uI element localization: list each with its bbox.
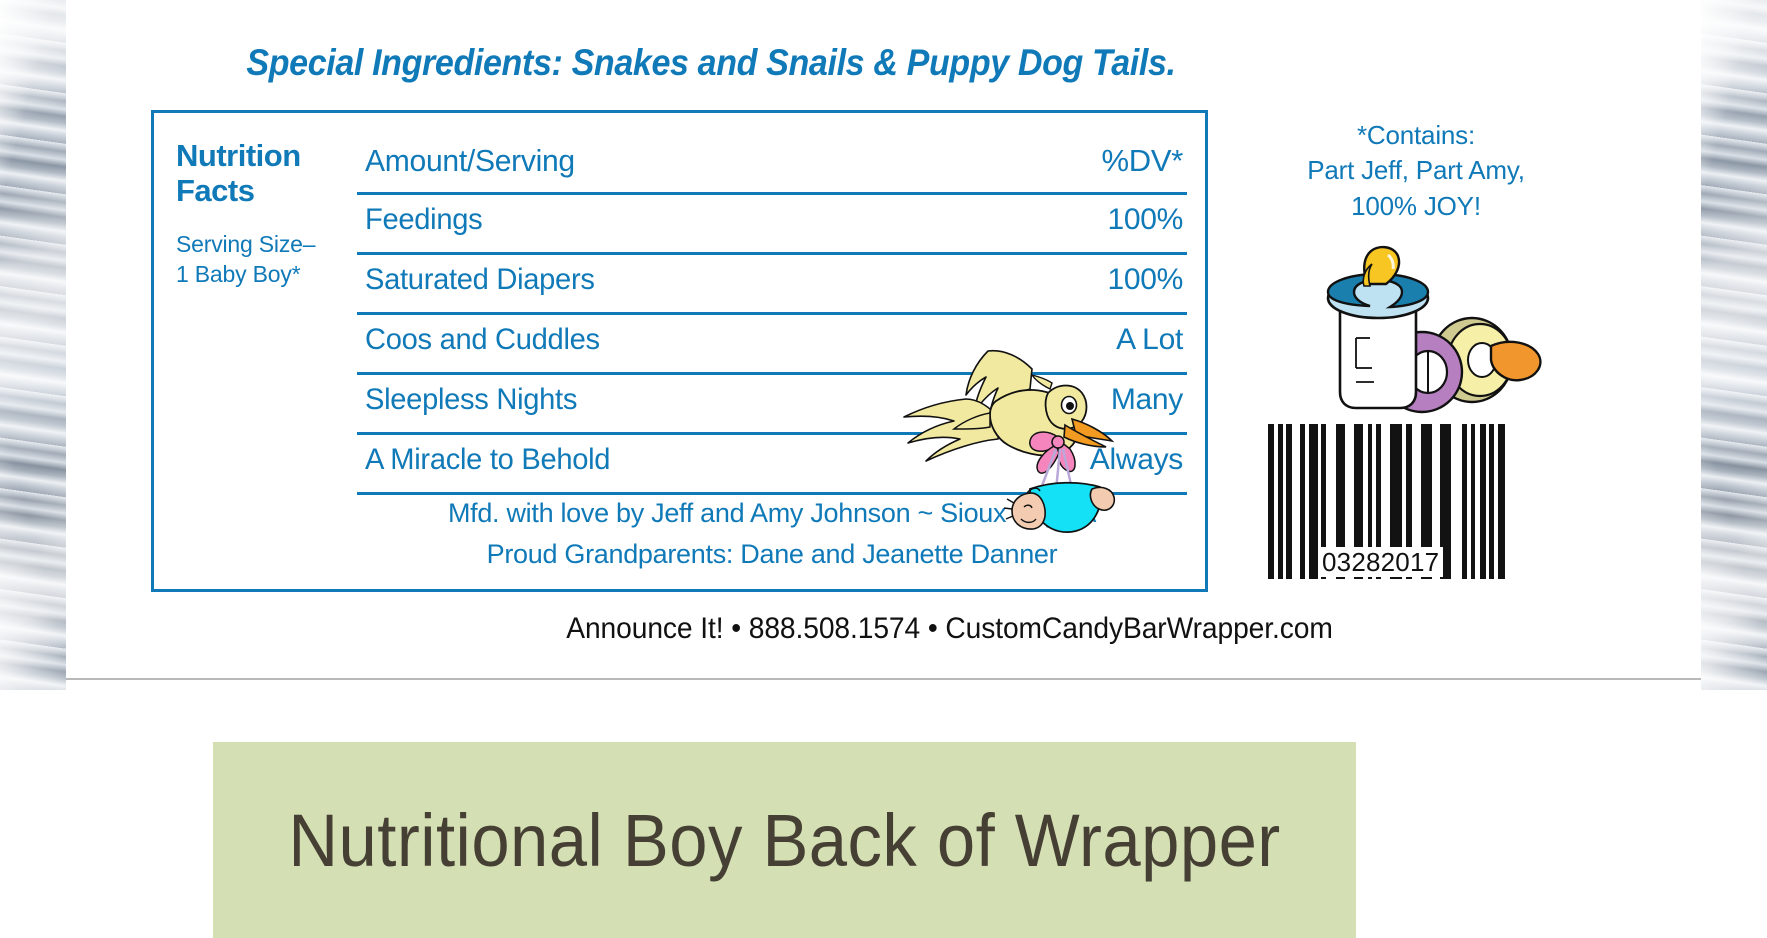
contains-line1: *Contains: <box>1226 118 1606 153</box>
wrapper-white-panel: Special Ingredients: Snakes and Snails &… <box>66 0 1701 680</box>
nutrition-row-value: A Lot <box>1116 323 1183 357</box>
contains-line3: 100% JOY! <box>1226 189 1606 224</box>
barcode-icon: 03282017 <box>1268 424 1505 579</box>
nutrition-row-label: Coos and Cuddles <box>365 323 600 357</box>
nutrition-facts-title: Nutrition Facts <box>176 139 351 208</box>
foil-edge-left <box>0 0 66 690</box>
baby-bottle-icon <box>1286 242 1546 422</box>
nutrition-row-value: 100% <box>1107 263 1183 297</box>
nutrition-row-header: Amount/Serving %DV* <box>357 135 1187 195</box>
wrapper-preview-stage: Special Ingredients: Snakes and Snails &… <box>0 0 1767 938</box>
manufactured-by-line: Mfd. with love by Jeff and Amy Johnson ~… <box>357 493 1187 534</box>
nutrition-row-label: Sleepless Nights <box>365 383 577 417</box>
announce-footer-line: Announce It! • 888.508.1574 • CustomCand… <box>181 612 1718 646</box>
serving-size-block: Serving Size– 1 Baby Boy* <box>176 230 351 289</box>
bottle-and-pacifier-illustration <box>1286 242 1546 422</box>
nutrition-row-value: 100% <box>1107 203 1183 237</box>
nutrition-facts-title-line1: Nutrition <box>176 139 351 174</box>
nutrition-facts-heading-block: Nutrition Facts Serving Size– 1 Baby Boy… <box>176 139 351 289</box>
barcode-number: 03282017 <box>1318 547 1443 577</box>
nutrition-rows: Amount/Serving %DV* Feedings 100% Satura… <box>357 135 1187 495</box>
nutrition-row-value: Always <box>1090 443 1183 477</box>
contains-note: *Contains: Part Jeff, Part Amy, 100% JOY… <box>1226 118 1606 224</box>
table-row: Coos and Cuddles A Lot <box>357 315 1187 375</box>
caption-bar: Nutritional Boy Back of Wrapper <box>213 742 1356 938</box>
foil-edge-right <box>1701 0 1767 690</box>
table-row: Feedings 100% <box>357 195 1187 255</box>
special-ingredients-line: Special Ingredients: Snakes and Snails &… <box>118 42 1305 84</box>
nutrition-row-value: Many <box>1111 383 1183 417</box>
table-row: Sleepless Nights Many <box>357 375 1187 435</box>
table-row: A Miracle to Behold Always <box>357 435 1187 495</box>
nutrition-row-label: Saturated Diapers <box>365 263 595 297</box>
right-info-column: *Contains: Part Jeff, Part Amy, 100% JOY… <box>1226 118 1606 422</box>
nutrition-footer-block: Mfd. with love by Jeff and Amy Johnson ~… <box>357 493 1187 575</box>
grandparents-line: Proud Grandparents: Dane and Jeanette Da… <box>357 534 1187 575</box>
contains-line2: Part Jeff, Part Amy, <box>1226 153 1606 188</box>
serving-size-line1: Serving Size– <box>176 230 351 259</box>
caption-title: Nutritional Boy Back of Wrapper <box>288 798 1280 883</box>
table-row: Saturated Diapers 100% <box>357 255 1187 315</box>
nutrition-row-label: Feedings <box>365 203 482 237</box>
amount-serving-label: Amount/Serving <box>365 143 575 179</box>
nutrition-row-label: A Miracle to Behold <box>365 443 610 477</box>
nutrition-facts-title-line2: Facts <box>176 174 351 209</box>
serving-size-line2: 1 Baby Boy* <box>176 260 351 289</box>
dv-label: %DV* <box>1102 143 1184 179</box>
nutrition-facts-box: Nutrition Facts Serving Size– 1 Baby Boy… <box>151 110 1208 592</box>
